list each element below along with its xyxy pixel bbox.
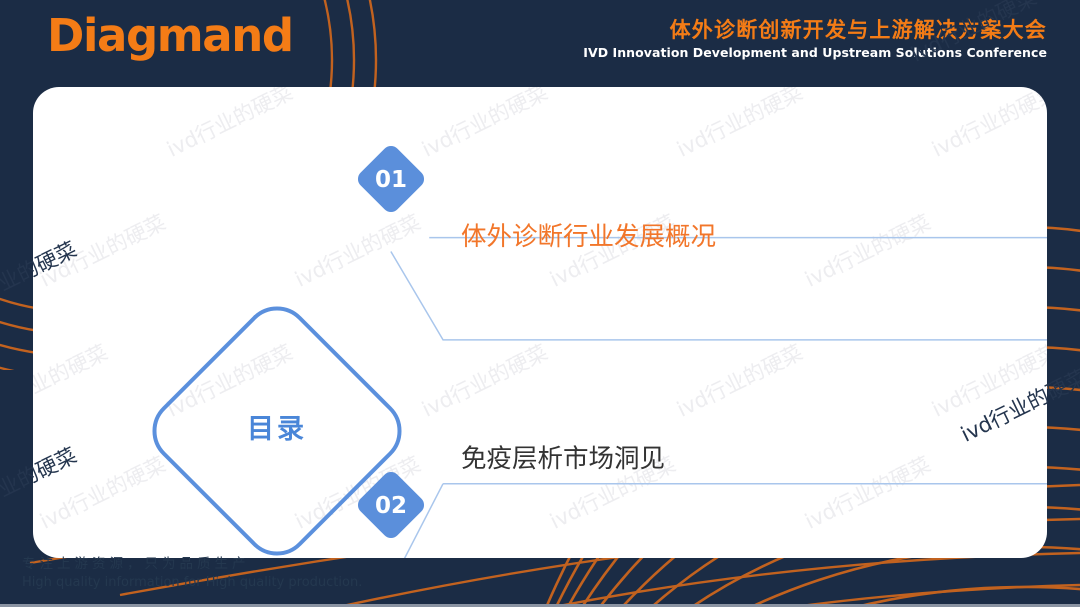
connector-lines bbox=[33, 87, 1047, 558]
watermark-text: ivd行业的硬菜 bbox=[33, 337, 112, 424]
watermark-text: ivd行业的硬菜 bbox=[671, 87, 807, 163]
content-card: ivd行业的硬菜 ivd行业的硬菜 ivd行业的硬菜 ivd行业的硬菜 ivd行… bbox=[33, 87, 1047, 558]
watermark-text: ivd行业的硬菜 bbox=[416, 87, 552, 163]
footer-tagline-en: High quality information for High qualit… bbox=[22, 574, 362, 593]
watermark-text: ivd行业的硬菜 bbox=[289, 207, 425, 294]
brand-logo: Diagmand bbox=[47, 13, 293, 58]
watermark-text: ivd行业的硬菜 bbox=[926, 337, 1047, 424]
watermark-text: ivd行业的硬菜 bbox=[799, 449, 935, 536]
conference-title-cn: 体外诊断创新开发与上游解决方案大会 bbox=[583, 17, 1047, 43]
watermark-text: ivd行业的硬菜 bbox=[926, 87, 1047, 163]
agenda-badge-02-number: 02 bbox=[354, 493, 428, 519]
watermark-text: ivd行业的硬菜 bbox=[161, 87, 297, 163]
watermark-text: ivd行业的硬菜 bbox=[416, 337, 552, 424]
footer-tagline: 专注上游资源，只为品质生产 High quality information f… bbox=[22, 555, 362, 593]
watermark-layer: ivd行业的硬菜 ivd行业的硬菜 ivd行业的硬菜 ivd行业的硬菜 ivd行… bbox=[33, 87, 1047, 558]
agenda-title-01: 体外诊断行业发展概况 bbox=[461, 225, 716, 251]
footer-tagline-cn: 专注上游资源，只为品质生产 bbox=[22, 555, 362, 575]
watermark-text: ivd行业的硬菜 bbox=[34, 449, 170, 536]
watermark-text: ivd行业的硬菜 bbox=[34, 207, 170, 294]
agenda-badge-01-number: 01 bbox=[354, 167, 428, 193]
agenda-title-02: 免疫层析市场洞见 bbox=[461, 447, 665, 473]
watermark-text: ivd行业的硬菜 bbox=[799, 207, 935, 294]
conference-title-block: 体外诊断创新开发与上游解决方案大会 IVD Innovation Develop… bbox=[583, 17, 1047, 62]
conference-title-en: IVD Innovation Development and Upstream … bbox=[583, 44, 1047, 62]
watermark-text: ivd行业的硬菜 bbox=[671, 337, 807, 424]
slide-root: Diagmand 体外诊断创新开发与上游解决方案大会 IVD Innovatio… bbox=[0, 0, 1080, 607]
center-diamond-label: 目录 bbox=[178, 407, 376, 446]
